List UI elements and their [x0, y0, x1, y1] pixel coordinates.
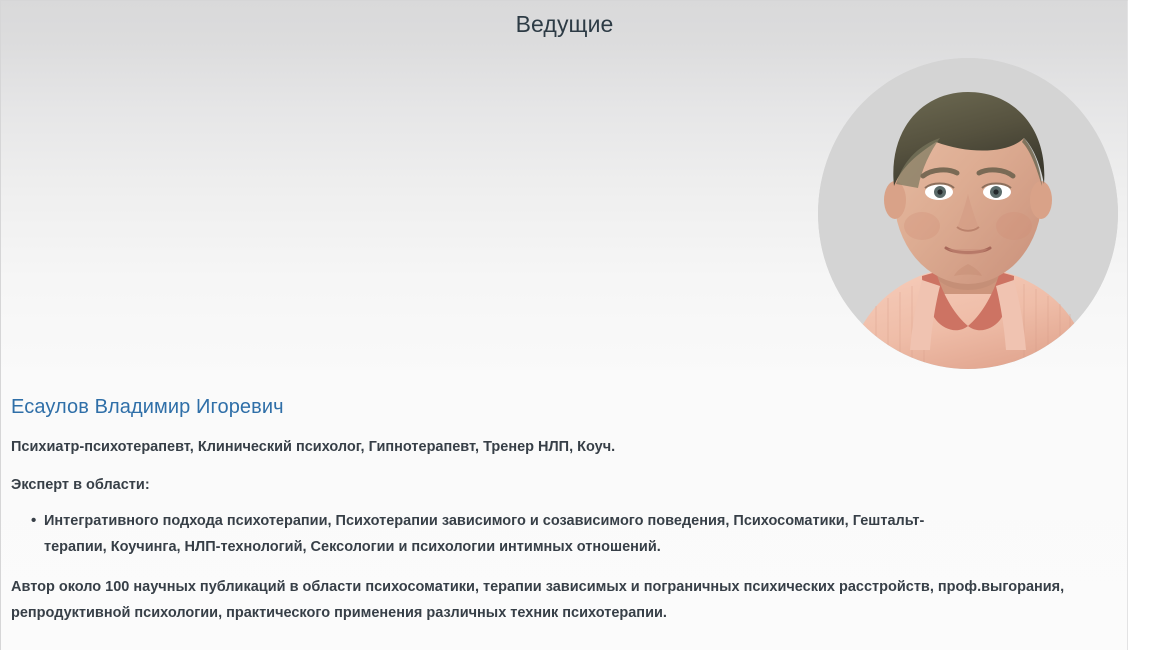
person-role: Психиатр-психотерапевт, Клинический псих…: [11, 437, 1119, 458]
portrait-container: [818, 58, 1118, 369]
page-container: Ведущие: [0, 0, 1128, 650]
page-title: Ведущие: [516, 1, 614, 38]
portrait-illustration: [818, 58, 1118, 369]
avatar: [818, 58, 1118, 369]
person-bio: Автор около 100 научных публикаций в обл…: [11, 574, 1119, 626]
person-name[interactable]: Есаулов Владимир Игоревич: [11, 393, 1119, 421]
expert-label: Эксперт в области:: [11, 475, 1119, 496]
list-item: Интегративного подхода психотерапии, Пси…: [44, 508, 1119, 560]
page-header: Ведущие: [1, 1, 1128, 47]
person-details: Есаулов Владимир Игоревич Психиатр-психо…: [11, 393, 1119, 626]
expert-areas-list: Интегративного подхода психотерапии, Пси…: [11, 508, 1119, 560]
